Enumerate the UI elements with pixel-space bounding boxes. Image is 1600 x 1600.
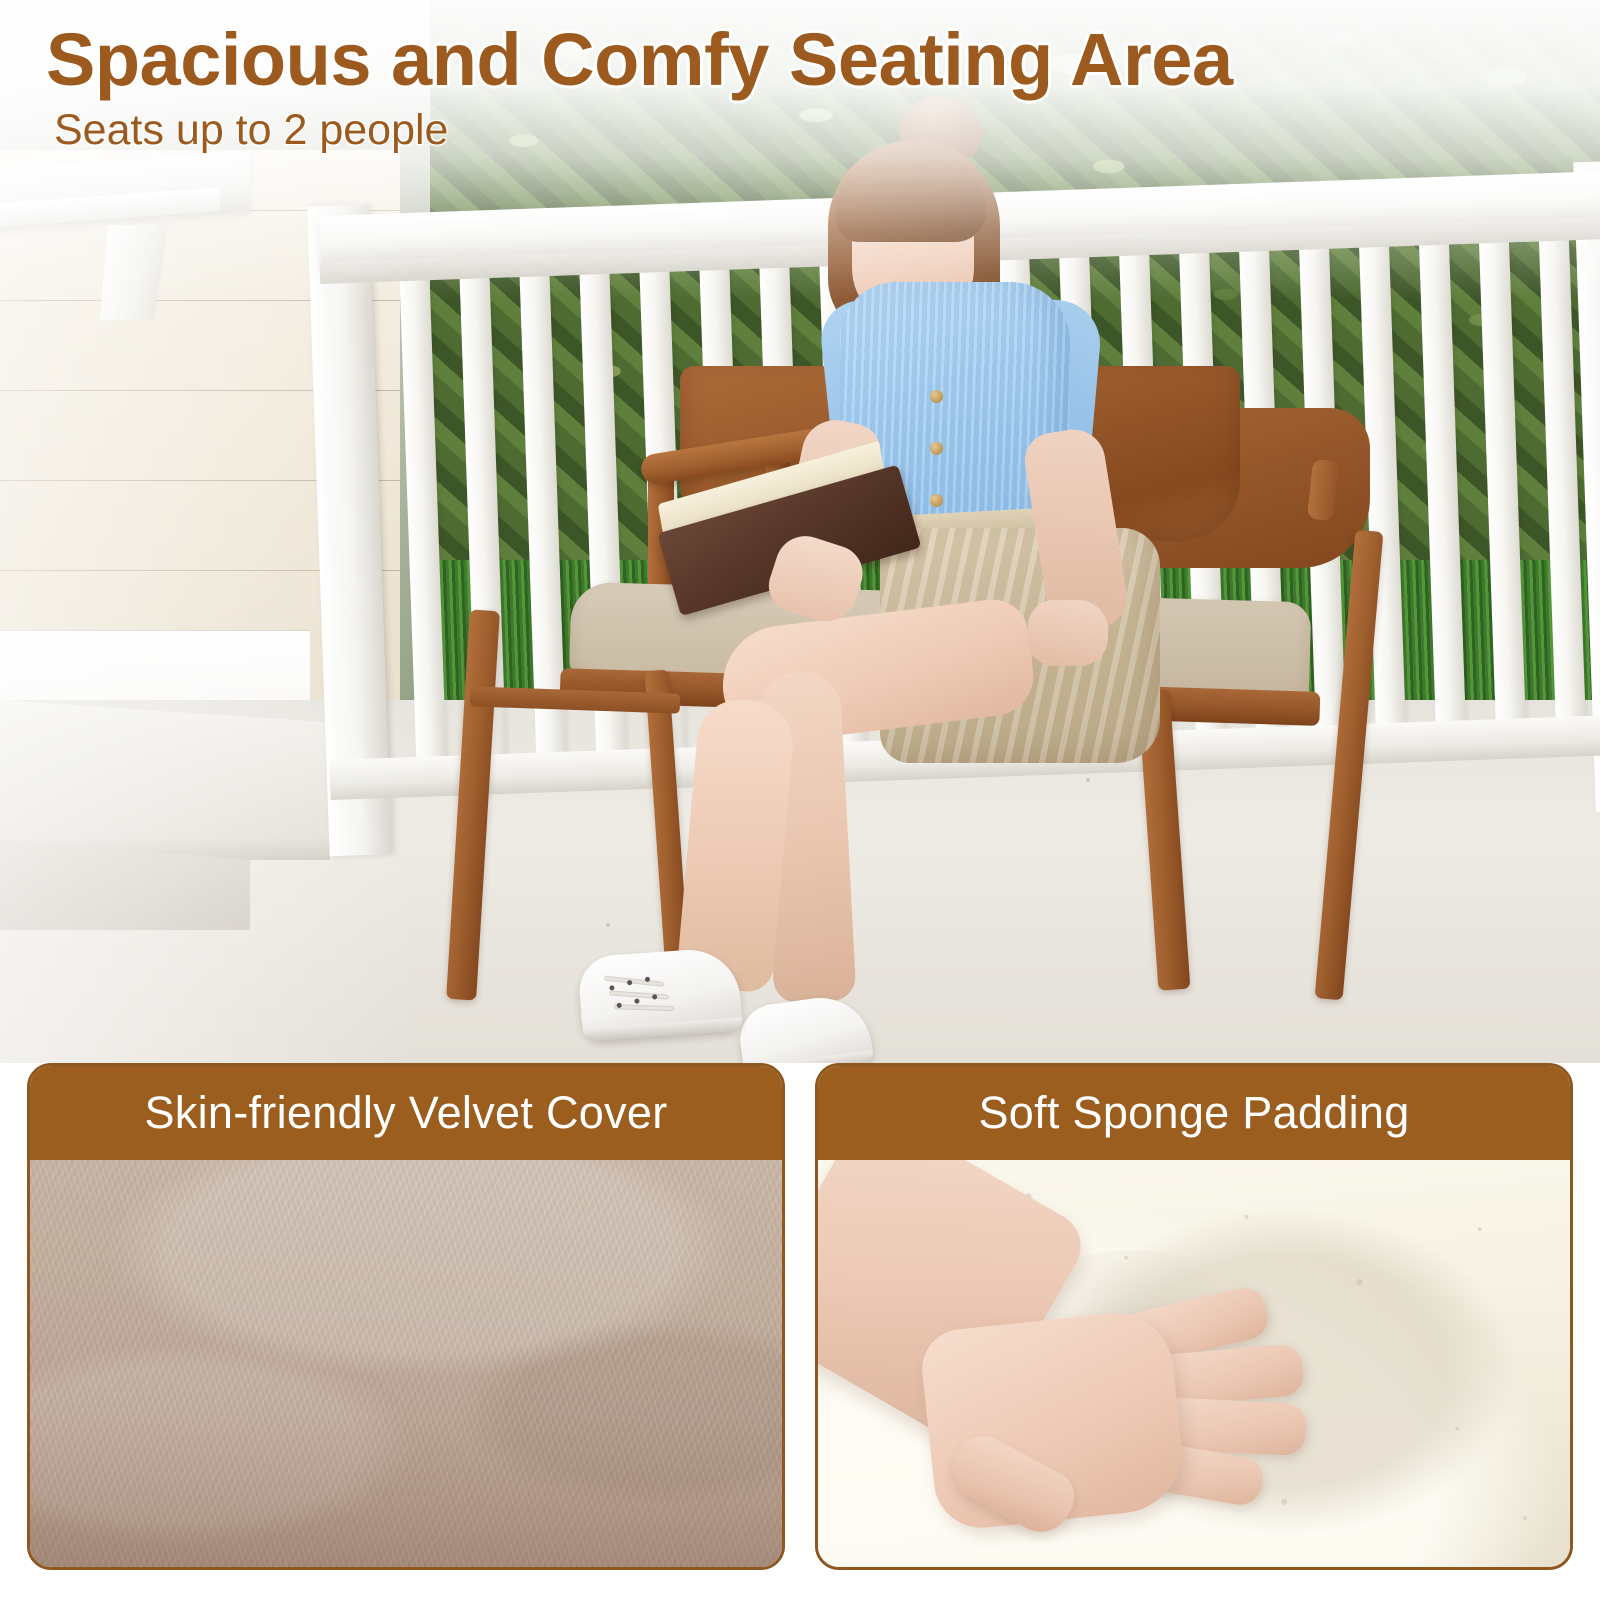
- feature-panel-velvet-title: Skin-friendly Velvet Cover: [144, 1087, 667, 1139]
- headline-block: Spacious and Comfy Seating Area Seats up…: [46, 22, 1233, 152]
- hair-fringe: [836, 150, 986, 242]
- feature-panel-velvet: Skin-friendly Velvet Cover: [27, 1063, 785, 1570]
- sneaker-front: [577, 947, 742, 1042]
- velvet-fabric-closeup: [30, 1160, 782, 1567]
- hand-right: [1028, 600, 1108, 666]
- feature-panels: Skin-friendly Velvet Cover Soft Sponge P…: [0, 1063, 1600, 1600]
- page-subtitle: Seats up to 2 people: [54, 109, 1233, 152]
- feature-panel-sponge-title: Soft Sponge Padding: [978, 1087, 1409, 1139]
- hero-lifestyle-image: [0, 0, 1600, 1063]
- feature-panel-sponge: Soft Sponge Padding: [815, 1063, 1573, 1570]
- product-feature-poster: Spacious and Comfy Seating Area Seats up…: [0, 0, 1600, 1600]
- velvet-nap-shading: [30, 1417, 782, 1567]
- sneaker-back: [736, 991, 875, 1063]
- page-title: Spacious and Comfy Seating Area: [46, 22, 1233, 97]
- feature-panel-sponge-header: Soft Sponge Padding: [818, 1066, 1570, 1160]
- hand-pressing-sponge: [818, 1160, 1570, 1567]
- feature-panel-velvet-header: Skin-friendly Velvet Cover: [30, 1066, 782, 1160]
- seated-woman: [0, 0, 1600, 1063]
